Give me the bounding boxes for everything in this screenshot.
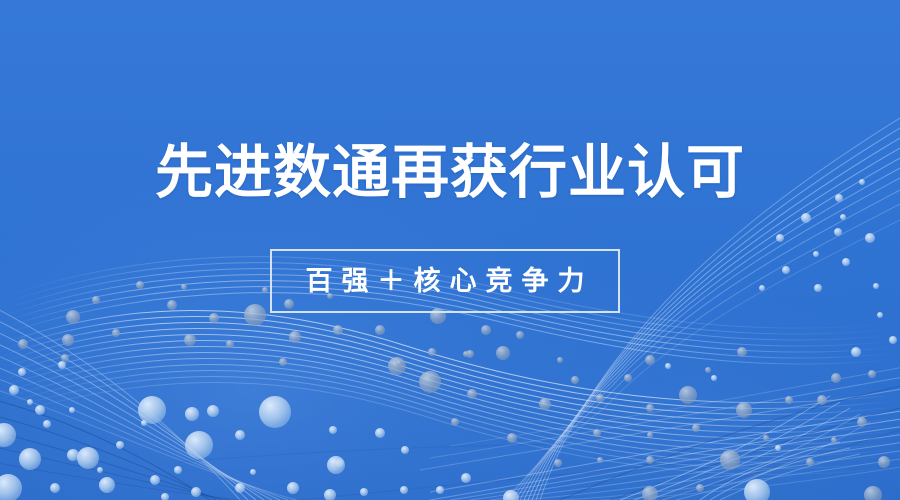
promo-banner: 先进数通再获行业认可 百强＋核心竞争力: [0, 0, 900, 500]
banner-subtitle: 百强＋核心竞争力: [297, 266, 594, 296]
banner-title: 先进数通再获行业认可: [0, 140, 900, 206]
banner-subtitle-box: 百强＋核心竞争力: [270, 249, 620, 313]
